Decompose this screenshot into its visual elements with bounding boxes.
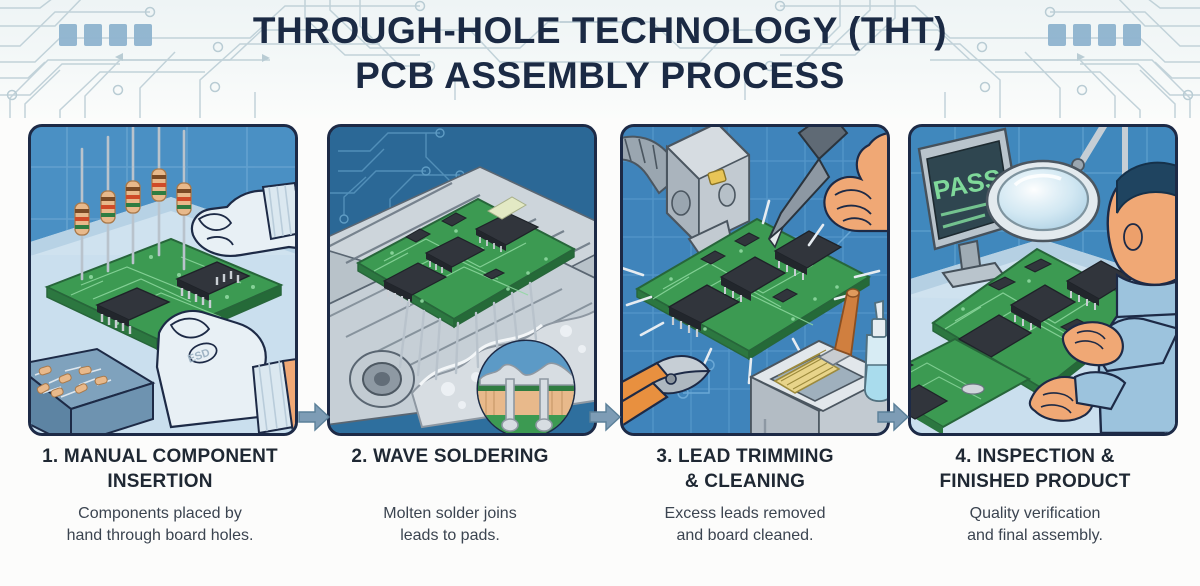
- step-1-illustration: ESD: [28, 124, 298, 436]
- caption-title-4-line2: FINISHED PRODUCT: [890, 469, 1180, 494]
- infographic-root: THROUGH-HOLE TECHNOLOGY (THT) PCB ASSEMB…: [0, 0, 1200, 586]
- caption-desc-4-line2: and final assembly.: [890, 525, 1180, 547]
- caption-title-2-line1: 2. WAVE SOLDERING: [305, 444, 595, 469]
- caption-title-3: 3. LEAD TRIMMING & CLEANING: [600, 444, 890, 494]
- caption-title-4-line1: 4. INSPECTION &: [890, 444, 1180, 469]
- solder-joint-inset: [478, 341, 574, 433]
- caption-step-2: 2. WAVE SOLDERING Molten solder joins le…: [305, 444, 595, 547]
- caption-title-1-line2: INSERTION: [15, 469, 305, 494]
- caption-title-2-line2: [305, 469, 595, 494]
- caption-step-4: 4. INSPECTION & FINISHED PRODUCT Quality…: [890, 444, 1180, 547]
- next-step-arrow-3: [876, 400, 910, 434]
- caption-title-4: 4. INSPECTION & FINISHED PRODUCT: [890, 444, 1180, 494]
- title-line-1: THROUGH-HOLE TECHNOLOGY (THT): [0, 8, 1200, 53]
- caption-desc-3-line2: and board cleaned.: [600, 525, 890, 547]
- step-captions: 1. MANUAL COMPONENT INSERTION Components…: [0, 444, 1200, 574]
- caption-desc-2-line1: Molten solder joins: [305, 503, 595, 525]
- caption-desc-1-line2: hand through board holes.: [15, 525, 305, 547]
- caption-desc-3-line1: Excess leads removed: [600, 503, 890, 525]
- caption-desc-2-line2: leads to pads.: [305, 525, 595, 547]
- caption-title-1-line1: 1. MANUAL COMPONENT: [15, 444, 305, 469]
- caption-desc-1-line1: Components placed by: [15, 503, 305, 525]
- title-line-2: PCB ASSEMBLY PROCESS: [0, 53, 1200, 98]
- caption-step-3: 3. LEAD TRIMMING & CLEANING Excess leads…: [600, 444, 890, 547]
- page-title: THROUGH-HOLE TECHNOLOGY (THT) PCB ASSEMB…: [0, 8, 1200, 98]
- caption-desc-1: Components placed by hand through board …: [15, 503, 305, 547]
- header-band: THROUGH-HOLE TECHNOLOGY (THT) PCB ASSEMB…: [0, 0, 1200, 118]
- caption-title-1: 1. MANUAL COMPONENT INSERTION: [15, 444, 305, 494]
- caption-desc-2: Molten solder joins leads to pads.: [305, 503, 595, 547]
- step-2-illustration: [327, 124, 597, 436]
- conveyor-roller: [350, 351, 414, 407]
- caption-title-2: 2. WAVE SOLDERING: [305, 444, 595, 494]
- caption-desc-4-line1: Quality verification: [890, 503, 1180, 525]
- process-panels: ESD: [0, 124, 1200, 432]
- caption-title-3-line1: 3. LEAD TRIMMING: [600, 444, 890, 469]
- step-4-illustration: PASS: [908, 124, 1178, 436]
- next-step-arrow-1: [297, 400, 331, 434]
- caption-desc-3: Excess leads removed and board cleaned.: [600, 503, 890, 547]
- caption-step-1: 1. MANUAL COMPONENT INSERTION Components…: [15, 444, 305, 547]
- next-step-arrow-2: [588, 400, 622, 434]
- caption-desc-4: Quality verification and final assembly.: [890, 503, 1180, 547]
- caption-title-3-line2: & CLEANING: [600, 469, 890, 494]
- step-3-illustration: [620, 124, 890, 436]
